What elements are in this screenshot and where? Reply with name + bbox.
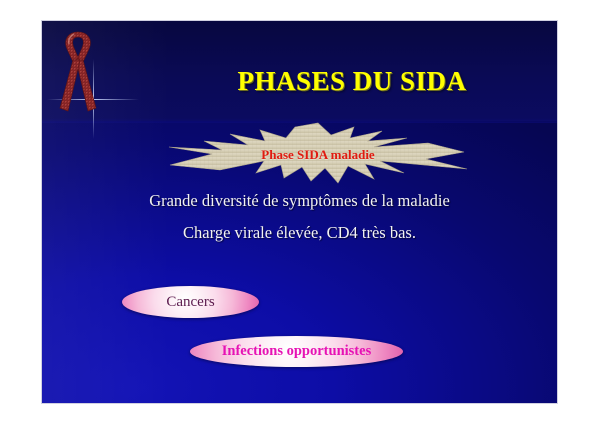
callout-infections-opportunistes: Infections opportunistes xyxy=(190,336,403,367)
body-line-2: Charge virale élevée, CD4 très bas. xyxy=(42,223,557,243)
body-line-1: Grande diversité de symptômes de la mala… xyxy=(42,191,557,211)
starburst-banner: Phase SIDA maladie xyxy=(168,121,468,185)
starburst-label: Phase SIDA maladie xyxy=(168,147,468,163)
slide-title: PHASES DU SIDA xyxy=(162,66,542,97)
slide-page: PHASES DU SIDA Phase xyxy=(0,0,600,424)
callout-cancers: Cancers xyxy=(122,286,259,318)
presentation-slide: PHASES DU SIDA Phase xyxy=(42,21,557,403)
aids-awareness-ribbon-icon xyxy=(50,26,106,118)
